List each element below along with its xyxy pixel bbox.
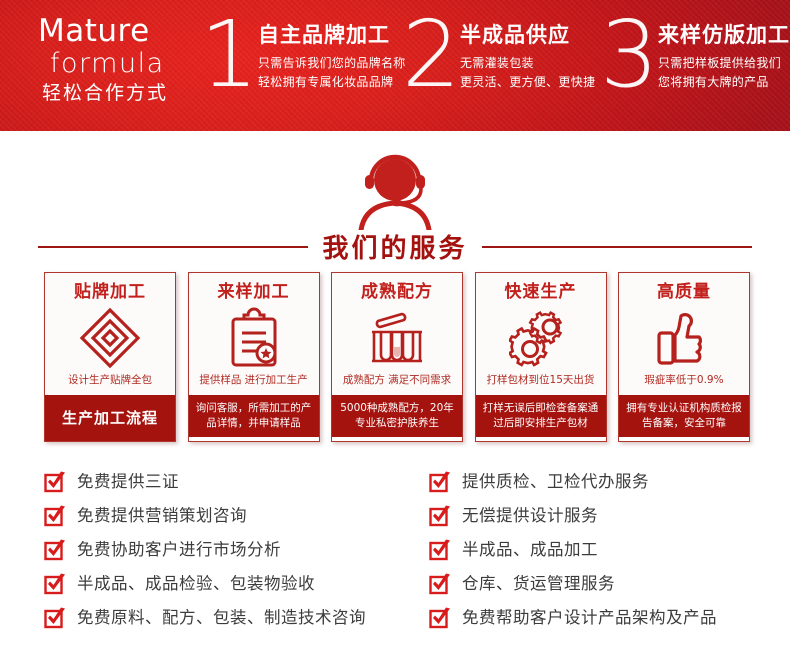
service-heading: 我们的服务 bbox=[0, 150, 790, 260]
step-number: 2 bbox=[402, 12, 460, 98]
check-mark-icon bbox=[44, 607, 66, 629]
service-card-high-quality[interactable]: 高质量 瑕疵率低于0.9% 拥有专业认证机构质检报告备案，安全可靠 bbox=[618, 272, 750, 442]
step-title: 自主品牌加工 bbox=[258, 22, 406, 49]
thumbs-up-icon bbox=[653, 307, 715, 369]
service-card-sample-processing[interactable]: 来样加工 提供样品 进行加工生产 询问客服，所需加工的产品详情，并申请样品 bbox=[188, 272, 320, 442]
step-number: 1 bbox=[200, 12, 258, 98]
check-mark-icon bbox=[429, 539, 451, 561]
list-item: 免费提供营销策划咨询 bbox=[44, 500, 429, 531]
step-title: 半成品供应 bbox=[460, 22, 595, 49]
card-title: 成熟配方 bbox=[361, 281, 433, 303]
list-item: 提供质检、卫检代办服务 bbox=[429, 466, 784, 497]
brand-line-tagline: 轻松合作方式 bbox=[42, 80, 198, 106]
list-item: 免费协助客户进行市场分析 bbox=[44, 534, 429, 565]
checklist-label: 免费提供营销策划咨询 bbox=[77, 505, 247, 527]
service-card-oem[interactable]: 贴牌加工 设计生产贴牌全包 生产加工流程 bbox=[44, 272, 176, 442]
check-mark-icon bbox=[44, 471, 66, 493]
check-mark-icon bbox=[429, 471, 451, 493]
checklist-column-left: 免费提供三证 免费提供营销策划咨询 免费协助客户进行市场分析 半成品、成品检验、… bbox=[44, 466, 429, 633]
brand-line-formula: formula bbox=[50, 48, 198, 80]
layered-diamond-icon bbox=[79, 307, 141, 369]
checklist-column-right: 提供质检、卫检代办服务 无偿提供设计服务 半成品、成品加工 仓库、货运管理服务 … bbox=[429, 466, 784, 633]
step-subtitle-2: 更灵活、更方便、更快捷 bbox=[460, 73, 595, 92]
card-title: 贴牌加工 bbox=[74, 281, 146, 303]
service-cards-row: 贴牌加工 设计生产贴牌全包 生产加工流程 来样加工 bbox=[44, 272, 750, 442]
header-banner: Mature formula 轻松合作方式 1 自主品牌加工 只需告诉我们您的品… bbox=[0, 0, 790, 131]
test-tube-rack-icon bbox=[366, 307, 428, 369]
card-footer: 5000种成熟配方，20年专业私密护肤养生 bbox=[332, 395, 462, 437]
card-subtitle: 瑕疵率低于0.9% bbox=[644, 373, 723, 395]
gears-icon bbox=[509, 307, 573, 369]
checklist-label: 免费协助客户进行市场分析 bbox=[77, 539, 281, 561]
card-title: 快速生产 bbox=[505, 281, 577, 303]
checklist-label: 半成品、成品检验、包装物验收 bbox=[77, 573, 315, 595]
checklist-label: 提供质检、卫检代办服务 bbox=[462, 471, 649, 493]
checklist-label: 免费帮助客户设计产品架构及产品 bbox=[462, 607, 717, 629]
check-mark-icon bbox=[429, 573, 451, 595]
benefits-checklist: 免费提供三证 免费提供营销策划咨询 免费协助客户进行市场分析 半成品、成品检验、… bbox=[44, 466, 784, 633]
check-mark-icon bbox=[44, 505, 66, 527]
check-mark-icon bbox=[429, 505, 451, 527]
card-footer: 打样无误后即检查备案通过后即安排生产包材 bbox=[476, 395, 606, 437]
step-subtitle-1: 无需灌装包装 bbox=[460, 54, 595, 73]
brand-line-mature: Mature bbox=[38, 14, 198, 48]
list-item: 半成品、成品加工 bbox=[429, 534, 784, 565]
checklist-label: 半成品、成品加工 bbox=[462, 539, 598, 561]
list-item: 仓库、货运管理服务 bbox=[429, 568, 784, 599]
step-subtitle-2: 轻松拥有专属化妆品品牌 bbox=[258, 73, 406, 92]
checklist-label: 仓库、货运管理服务 bbox=[462, 573, 615, 595]
header-step-3: 3 来样仿版加工 只需把样板提供给我们 您将拥有大牌的产品 bbox=[600, 10, 790, 120]
step-title: 来样仿版加工 bbox=[658, 22, 790, 49]
card-title: 高质量 bbox=[657, 281, 711, 303]
list-item: 免费原料、配方、包装、制造技术咨询 bbox=[44, 602, 429, 633]
card-subtitle: 提供样品 进行加工生产 bbox=[199, 373, 307, 395]
card-footer: 生产加工流程 bbox=[45, 395, 175, 441]
checklist-label: 免费提供三证 bbox=[77, 471, 179, 493]
check-mark-icon bbox=[44, 539, 66, 561]
card-subtitle: 成熟配方 满足不同需求 bbox=[343, 373, 451, 395]
checklist-label: 免费原料、配方、包装、制造技术咨询 bbox=[77, 607, 366, 629]
step-subtitle-1: 只需把样板提供给我们 bbox=[658, 54, 790, 73]
card-title: 来样加工 bbox=[218, 281, 290, 303]
service-card-fast-production[interactable]: 快速生产 打样包材到位15天出货 打样无误后即检查备案通过后即安排生产包材 bbox=[475, 272, 607, 442]
title-rule-left bbox=[38, 246, 308, 248]
header-step-2: 2 半成品供应 无需灌装包装 更灵活、更方便、更快捷 bbox=[402, 10, 595, 120]
check-mark-icon bbox=[44, 573, 66, 595]
list-item: 无偿提供设计服务 bbox=[429, 500, 784, 531]
checklist-label: 无偿提供设计服务 bbox=[462, 505, 598, 527]
clipboard-star-icon bbox=[227, 307, 281, 369]
step-subtitle-1: 只需告诉我们您的品牌名称 bbox=[258, 54, 406, 73]
card-footer: 拥有专业认证机构质检报告备案，安全可靠 bbox=[619, 395, 749, 437]
step-subtitle-2: 您将拥有大牌的产品 bbox=[658, 73, 790, 92]
service-card-mature-formula[interactable]: 成熟配方 bbox=[331, 272, 463, 442]
card-subtitle: 设计生产贴牌全包 bbox=[68, 373, 152, 395]
card-subtitle: 打样包材到位15天出货 bbox=[487, 373, 595, 395]
card-footer: 询问客服，所需加工的产品详情，并申请样品 bbox=[189, 395, 319, 437]
list-item: 免费帮助客户设计产品架构及产品 bbox=[429, 602, 784, 633]
brand-block: Mature formula 轻松合作方式 bbox=[38, 14, 198, 106]
page-title: 我们的服务 bbox=[322, 228, 467, 265]
headset-support-icon bbox=[337, 150, 453, 234]
step-number: 3 bbox=[600, 12, 658, 98]
header-step-1: 1 自主品牌加工 只需告诉我们您的品牌名称 轻松拥有专属化妆品品牌 bbox=[200, 10, 406, 120]
title-rule-right bbox=[482, 246, 752, 248]
list-item: 半成品、成品检验、包装物验收 bbox=[44, 568, 429, 599]
list-item: 免费提供三证 bbox=[44, 466, 429, 497]
check-mark-icon bbox=[429, 607, 451, 629]
